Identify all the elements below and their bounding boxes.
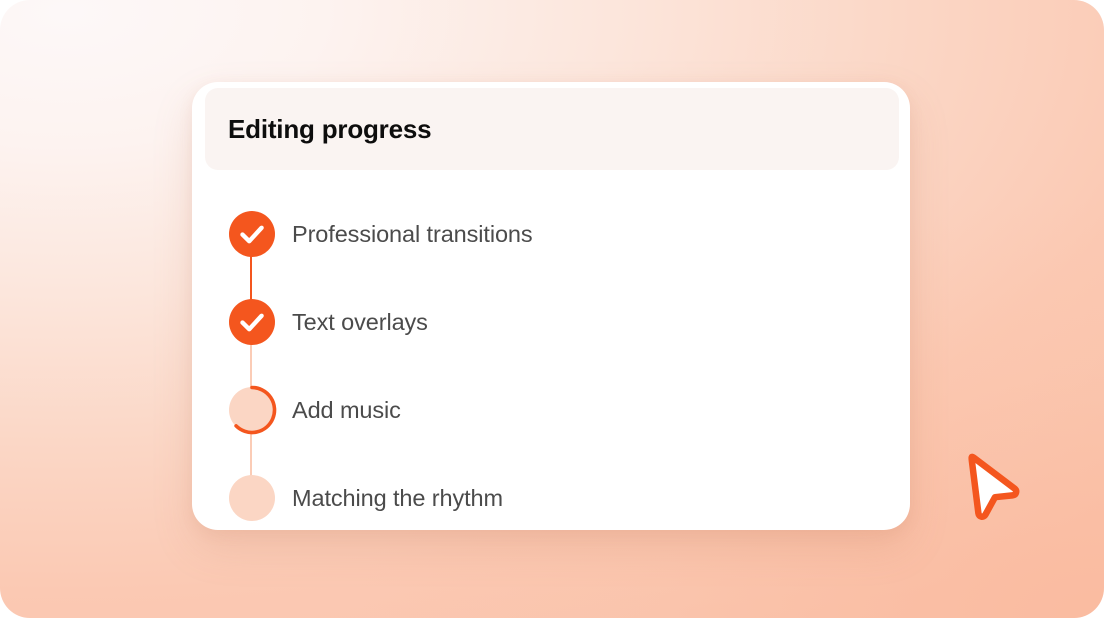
list-item-label: Text overlays bbox=[292, 309, 428, 336]
list-item-label: Professional transitions bbox=[292, 221, 533, 248]
list-item[interactable]: Matching the rhythm bbox=[192, 454, 910, 542]
checklist: Professional transitions Text overlays bbox=[192, 190, 910, 542]
list-item-label: Matching the rhythm bbox=[292, 485, 503, 512]
empty-circle-icon[interactable] bbox=[229, 475, 275, 521]
editing-progress-card: Editing progress Professional transition… bbox=[192, 82, 910, 530]
card-header: Editing progress bbox=[205, 88, 899, 170]
progress-circle-icon[interactable] bbox=[229, 387, 275, 433]
check-circle-icon[interactable] bbox=[229, 299, 275, 345]
arrow-pointer-icon bbox=[962, 448, 1034, 528]
check-circle-icon[interactable] bbox=[229, 211, 275, 257]
list-item[interactable]: Text overlays bbox=[192, 278, 910, 366]
list-item[interactable]: Professional transitions bbox=[192, 190, 910, 278]
page-title: Editing progress bbox=[228, 114, 431, 145]
list-item-label: Add music bbox=[292, 397, 401, 424]
app-canvas: Editing progress Professional transition… bbox=[0, 0, 1104, 618]
list-item[interactable]: Add music bbox=[192, 366, 910, 454]
